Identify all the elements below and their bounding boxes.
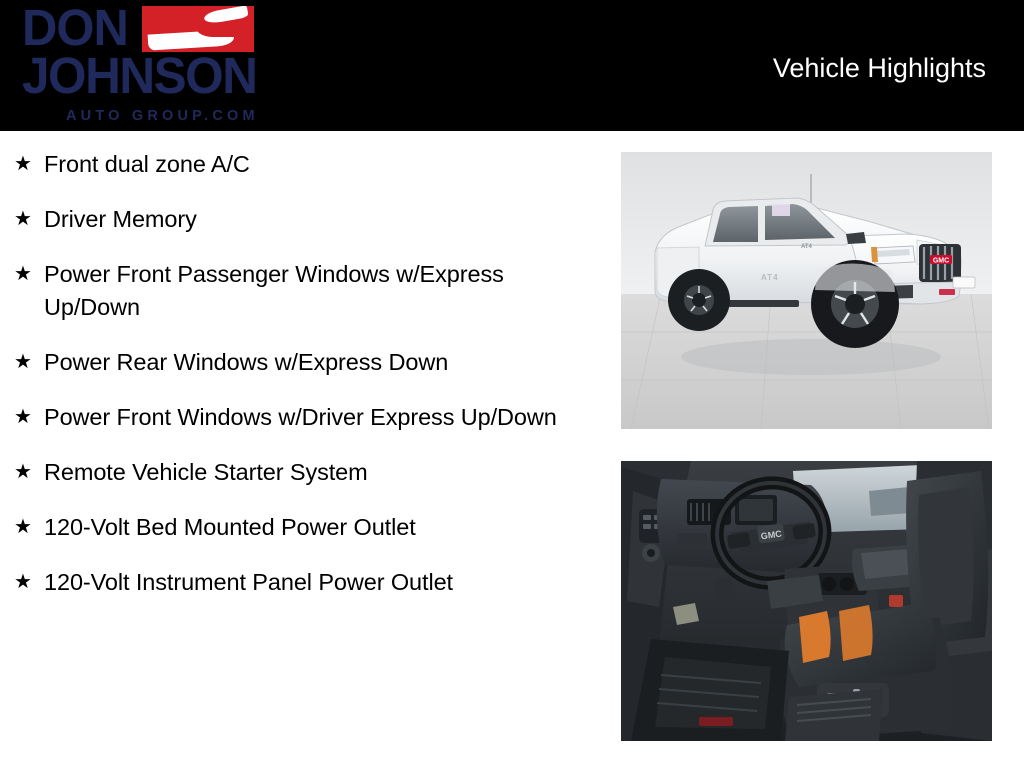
list-item: ★ Power Front Windows w/Driver Express U… (14, 401, 604, 434)
star-icon: ★ (14, 346, 44, 379)
star-icon: ★ (14, 148, 44, 181)
svg-text:GMC: GMC (933, 258, 949, 265)
list-item: ★ 120-Volt Bed Mounted Power Outlet (14, 511, 604, 544)
list-item: ★ Driver Memory (14, 203, 604, 236)
list-item-label: Front dual zone A/C (44, 148, 604, 181)
logo-tagline: AUTO GROUP.COM (66, 108, 259, 124)
list-item: ★ 120-Volt Instrument Panel Power Outlet (14, 566, 604, 599)
swoosh-icon (142, 6, 254, 52)
list-item: ★ Front dual zone A/C (14, 148, 604, 181)
dealer-logo[interactable]: DON JOHNSON AUTO GROUP.COM (22, 4, 272, 128)
star-icon: ★ (14, 401, 44, 434)
list-item: ★ Remote Vehicle Starter System (14, 456, 604, 489)
star-icon: ★ (14, 456, 44, 489)
logo-line-2: JOHNSON (22, 50, 256, 102)
svg-text:AT4: AT4 (801, 244, 813, 250)
star-icon: ★ (14, 258, 44, 291)
list-item-label: 120-Volt Instrument Panel Power Outlet (44, 566, 604, 599)
list-item-label: Power Front Windows w/Driver Express Up/… (44, 401, 604, 434)
page-title: Vehicle Highlights (773, 52, 986, 84)
list-item-label: Driver Memory (44, 203, 604, 236)
list-item: ★ Power Rear Windows w/Express Down (14, 346, 604, 379)
slide-root: DON JOHNSON AUTO GROUP.COM Vehicle Highl… (0, 0, 1024, 768)
star-icon: ★ (14, 566, 44, 599)
list-item-label: 120-Volt Bed Mounted Power Outlet (44, 511, 604, 544)
star-icon: ★ (14, 511, 44, 544)
list-item: ★ Power Front Passenger Windows w/Expres… (14, 258, 604, 324)
list-item-label: Power Front Passenger Windows w/Express … (44, 258, 604, 324)
star-icon: ★ (14, 203, 44, 236)
list-item-label: Power Rear Windows w/Express Down (44, 346, 604, 379)
list-item-label: Remote Vehicle Starter System (44, 456, 604, 489)
exterior-photo[interactable]: GMC AT4 AT4 (621, 152, 992, 429)
interior-photo[interactable]: GMC (621, 461, 992, 741)
header-bar: DON JOHNSON AUTO GROUP.COM Vehicle Highl… (0, 0, 1024, 131)
svg-text:AT4: AT4 (761, 273, 779, 282)
vehicle-highlights-list: ★ Front dual zone A/C ★ Driver Memory ★ … (14, 148, 604, 621)
